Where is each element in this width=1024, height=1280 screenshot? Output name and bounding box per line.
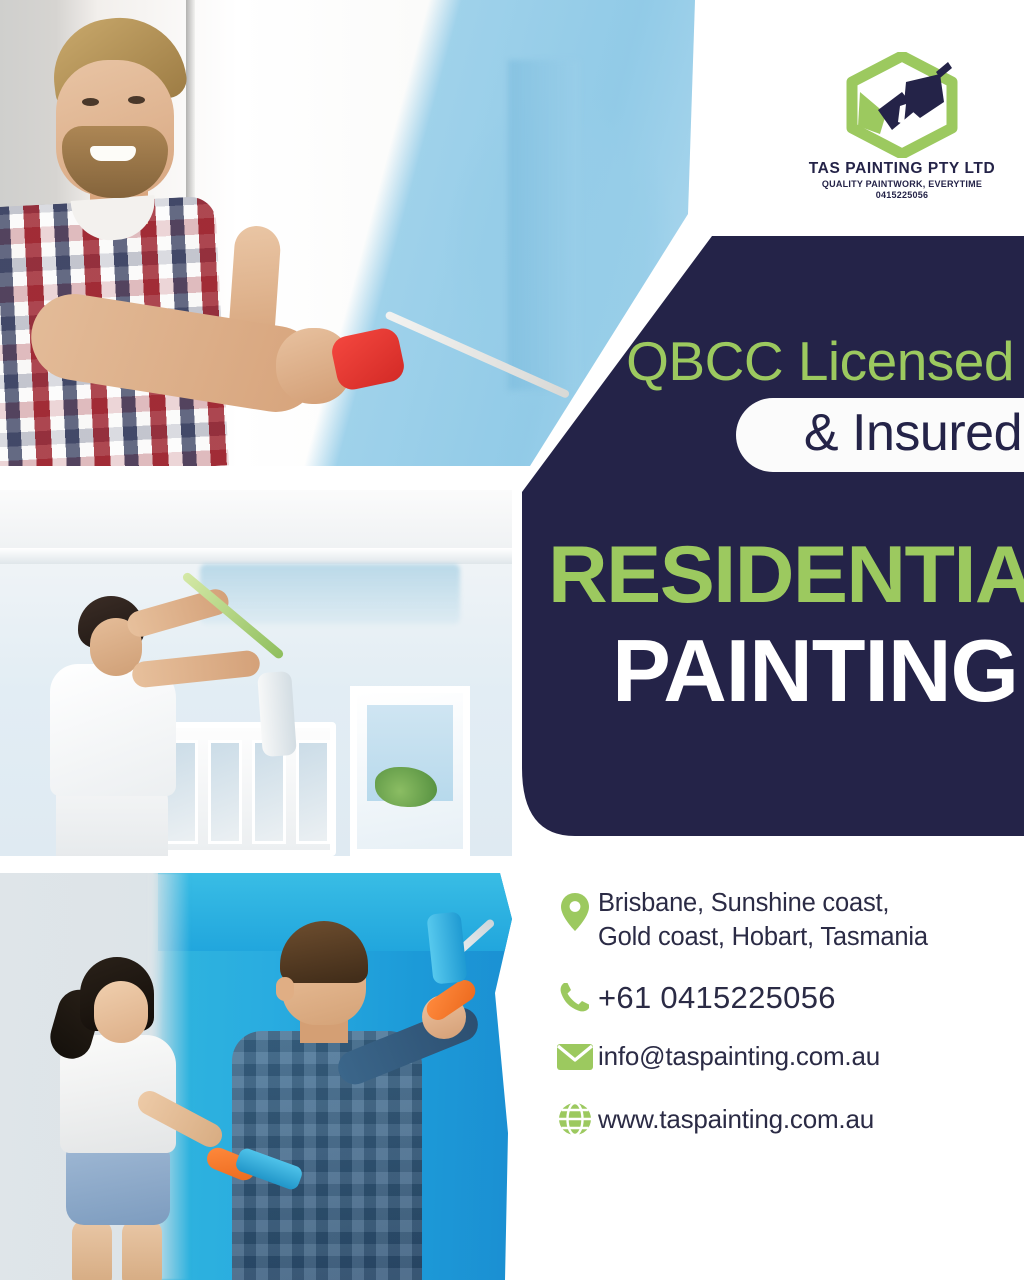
- headline-qbcc-licensed: QBCC Licensed: [560, 330, 1024, 392]
- lower-arm: [131, 649, 261, 688]
- window: [350, 686, 470, 856]
- denim-shorts: [66, 1143, 170, 1225]
- contact-row-website[interactable]: www.taspainting.com.au: [552, 1101, 1024, 1137]
- logo-tagline: QUALITY PAINTWORK, EVERYTIME: [800, 179, 1004, 189]
- globe-icon: [552, 1101, 598, 1137]
- address-line-2: Gold coast, Hobart, Tasmania: [598, 920, 928, 954]
- address-text: Brisbane, Sunshine coast, Gold coast, Ho…: [598, 886, 928, 954]
- leg-right: [122, 1219, 162, 1280]
- paint-roller: [257, 671, 297, 757]
- contact-row-phone[interactable]: +61 0415225056: [552, 980, 1024, 1014]
- face: [94, 981, 148, 1043]
- email-text: info@taspainting.com.au: [598, 1040, 880, 1073]
- photo-couple-painting-cyan-wall: [0, 873, 512, 1280]
- eye-left: [82, 98, 99, 106]
- headline-block: QBCC Licensed & Insured: [560, 330, 1024, 472]
- company-logo: TAS PAINTING PTY LTD QUALITY PAINTWORK, …: [800, 52, 1004, 202]
- contact-row-email[interactable]: info@taspainting.com.au: [552, 1040, 1024, 1073]
- painter-figure-woman: [34, 560, 294, 856]
- painter-figure-woman-white-top: [38, 957, 208, 1280]
- logo-company-name: TAS PAINTING PTY LTD: [800, 160, 1004, 178]
- headline-residential: RESIDENTIAL: [548, 532, 1024, 618]
- house-paintbrush-roller-logo-icon: [840, 52, 964, 158]
- red-roller-handle: [329, 326, 407, 393]
- ear: [276, 977, 294, 1001]
- contact-details: Brisbane, Sunshine coast, Gold coast, Ho…: [552, 886, 1024, 1159]
- painter-figure-man-blue-shirt: [226, 917, 456, 1280]
- logo-phone: 0415225056: [800, 190, 1004, 200]
- photo-woman-on-ladder-painting-ceiling: [0, 490, 512, 856]
- painter-figure-man: [0, 10, 324, 466]
- phone-text: +61 0415225056: [598, 981, 836, 1014]
- phone-icon: [552, 980, 598, 1014]
- eye-right: [128, 96, 145, 104]
- envelope-icon: [552, 1042, 598, 1072]
- flyer-canvas: TAS PAINTING PTY LTD QUALITY PAINTWORK, …: [0, 0, 1024, 1280]
- address-line-1: Brisbane, Sunshine coast,: [598, 889, 889, 917]
- headline-and-insured-pill: & Insured: [736, 398, 1024, 472]
- ceiling: [0, 490, 512, 556]
- headline-painting: PAINTING: [548, 624, 1024, 718]
- hair: [280, 921, 368, 983]
- location-pin-icon: [552, 886, 598, 932]
- mouth: [90, 146, 136, 161]
- website-text: www.taspainting.com.au: [598, 1103, 874, 1136]
- cabinet-pane: [296, 740, 330, 844]
- leg-left: [72, 1219, 112, 1280]
- paint-roller-sleeve: [426, 911, 467, 984]
- contact-row-address: Brisbane, Sunshine coast, Gold coast, Ho…: [552, 886, 1024, 954]
